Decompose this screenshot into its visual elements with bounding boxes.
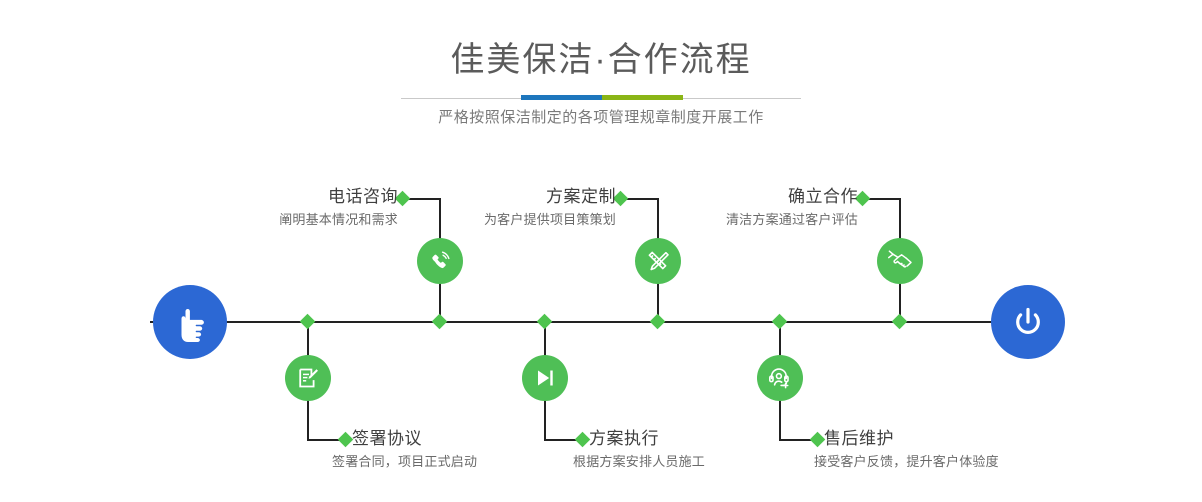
step-title-4: 方案执行 (589, 428, 705, 450)
page-title: 佳美保洁·合作流程 (0, 38, 1202, 82)
page-subtitle: 严格按照保洁制定的各项管理规章制度开展工作 (0, 106, 1202, 130)
divider-segment-green (602, 95, 683, 100)
process-flow-infographic: 佳美保洁·合作流程 严格按照保洁制定的各项管理规章制度开展工作 (0, 0, 1202, 502)
document-edit-icon (294, 364, 322, 392)
step-icon-4[interactable] (522, 355, 568, 401)
step-desc-5: 清洁方案通过客户评估 (460, 210, 858, 230)
step-desc-4: 根据方案安排人员施工 (573, 452, 705, 472)
step-title-6: 售后维护 (824, 428, 999, 450)
step-title-5: 确立合作 (460, 186, 858, 208)
step-label-2: 签署协议 签署合同，项目正式启动 (352, 428, 477, 472)
handshake-icon (886, 247, 914, 275)
power-icon (1008, 302, 1048, 342)
branch-diamond-step-4 (575, 432, 591, 448)
step-icon-1[interactable] (417, 238, 463, 284)
customer-service-icon (766, 364, 794, 392)
step-desc-6: 接受客户反馈，提升客户体验度 (814, 452, 999, 472)
step-label-5: 确立合作 清洁方案通过客户评估 (460, 186, 858, 230)
axis-diamond-step-4 (537, 314, 553, 330)
step-icon-2[interactable] (285, 355, 331, 401)
axis-diamond-step-3 (650, 314, 666, 330)
step-desc-2: 签署合同，项目正式启动 (332, 452, 477, 472)
axis-diamond-step-5 (892, 314, 908, 330)
timeline-start-endpoint (153, 285, 227, 359)
step-label-4: 方案执行 根据方案安排人员施工 (589, 428, 705, 472)
step-icon-6[interactable] (757, 355, 803, 401)
title-divider (401, 95, 801, 101)
step-icon-5[interactable] (877, 238, 923, 284)
axis-diamond-step-6 (772, 314, 788, 330)
ruler-pencil-icon (644, 247, 672, 275)
axis-diamond-step-2 (300, 314, 316, 330)
branch-diamond-step-6 (810, 432, 826, 448)
timeline-end-endpoint (991, 285, 1065, 359)
play-next-icon (531, 364, 559, 392)
hand-pointing-icon (170, 302, 210, 342)
phone-call-icon (426, 247, 454, 275)
branch-diamond-step-2 (338, 432, 354, 448)
step-title-2: 签署协议 (352, 428, 477, 450)
step-label-6: 售后维护 接受客户反馈，提升客户体验度 (824, 428, 999, 472)
divider-segment-blue (521, 95, 602, 100)
step-icon-3[interactable] (635, 238, 681, 284)
axis-diamond-step-1 (432, 314, 448, 330)
